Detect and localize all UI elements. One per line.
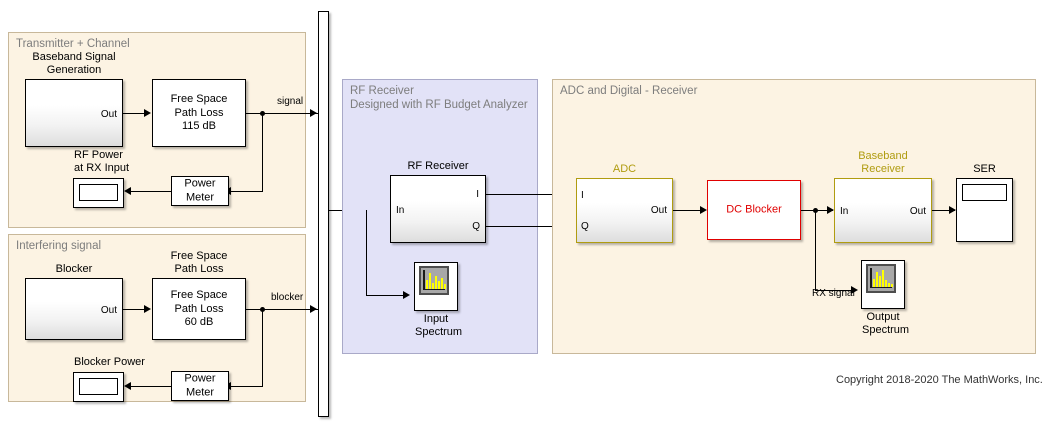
rf-power-display-readout (79, 184, 118, 201)
arrow-merge-in-blocker (310, 305, 317, 313)
port-label-in: In (396, 205, 404, 216)
port-label-out: Out (910, 206, 926, 217)
block-adc[interactable]: ADC I Q Out (576, 178, 673, 243)
block-free-space-path-loss-60-label: Free Space Path Loss (153, 250, 245, 276)
block-baseband-signal-generation[interactable]: Baseband Signal Generation Out (25, 79, 123, 147)
area-adc-digital-receiver-title: ADC and Digital - Receiver (560, 84, 697, 98)
block-input-spectrum-scope[interactable]: Input Spectrum (414, 262, 458, 311)
block-baseband-receiver[interactable]: Baseband Receiver In Out (834, 178, 932, 243)
spectrum-icon (866, 264, 896, 293)
block-baseband-receiver-label: Baseband Receiver (835, 150, 931, 176)
wire-to-power-meter-blocker (230, 386, 263, 387)
blocker-power-display-readout (79, 378, 118, 395)
wire-signal-tap-down (262, 113, 263, 191)
arrow-dc-blocker-in (700, 206, 707, 214)
arrow-merge-in-signal (310, 109, 317, 117)
port-label-q: Q (472, 221, 480, 232)
block-power-meter-blocker-text: Power Meter (172, 373, 228, 400)
block-power-meter-tx[interactable]: Power Meter (171, 176, 229, 206)
simulink-model-canvas: Transmitter + Channel Baseband Signal Ge… (0, 0, 1056, 427)
block-power-meter-tx-text: Power Meter (172, 178, 228, 205)
arrow-fspl60-in (144, 305, 151, 313)
wire-to-input-spectrum (366, 295, 408, 296)
area-interfering-signal-title: Interfering signal (16, 239, 101, 253)
arrow-baseband-receiver-in (827, 206, 834, 214)
ser-display-readout (962, 184, 1007, 201)
port-label-i: I (476, 189, 479, 200)
signal-label-blocker: blocker (271, 292, 303, 303)
block-free-space-path-loss-115[interactable]: Free Space Path Loss 115 dB (152, 79, 246, 147)
signal-label-rx-signal: RX signal (812, 288, 855, 299)
block-free-space-path-loss-115-text: Free Space Path Loss 115 dB (153, 93, 245, 134)
block-rf-receiver-label: RF Receiver (391, 160, 485, 173)
block-power-meter-blocker[interactable]: Power Meter (171, 371, 229, 401)
arrow-rf-power-display-in (124, 187, 131, 195)
arrow-ser-in (949, 206, 956, 214)
block-input-spectrum-label: Input Spectrum (415, 313, 457, 339)
block-adc-label: ADC (577, 163, 672, 176)
block-ser-display-label: SER (957, 163, 1012, 176)
block-merge-bar[interactable] (318, 11, 329, 417)
area-transmitter-channel-title: Transmitter + Channel (16, 37, 130, 51)
signal-label-signal: signal (277, 96, 303, 107)
wire-adc-to-dc-blocker (673, 210, 703, 211)
block-dc-blocker-text: DC Blocker (708, 203, 800, 217)
block-rf-power-display-label: RF Power at RX Input (74, 149, 123, 175)
wire-power-meter-tx-to-display (130, 191, 171, 192)
block-blocker-label: Blocker (26, 263, 122, 276)
block-baseband-signal-generation-label: Baseband Signal Generation (26, 51, 122, 77)
block-free-space-path-loss-60-text: Free Space Path Loss 60 dB (153, 289, 245, 330)
block-output-spectrum-label: Output Spectrum (862, 311, 904, 337)
block-rf-power-display[interactable]: RF Power at RX Input (73, 178, 124, 208)
block-blocker[interactable]: Blocker Out (25, 278, 123, 340)
copyright-notice: Copyright 2018-2020 The MathWorks, Inc. (836, 374, 1043, 386)
wire-to-power-meter-tx (230, 191, 263, 192)
wire-blocker-tap-down (262, 309, 263, 386)
port-label-out: Out (101, 305, 117, 316)
wire-rx-signal-tap-down (815, 210, 816, 290)
port-label-out: Out (651, 205, 667, 216)
scope-bars (423, 271, 444, 289)
block-blocker-power-display[interactable]: Blocker Power (73, 372, 124, 402)
arrow-input-spectrum-in (403, 291, 410, 299)
port-label-i: I (581, 190, 584, 201)
block-ser-display[interactable]: SER (956, 178, 1013, 242)
spectrum-icon (419, 266, 449, 295)
arrow-fspl115-in (144, 109, 151, 117)
port-label-in: In (840, 206, 848, 217)
block-output-spectrum-scope[interactable]: Output Spectrum (861, 260, 905, 309)
block-free-space-path-loss-60[interactable]: Free Space Path Loss Free Space Path Los… (152, 278, 246, 340)
block-blocker-power-display-label: Blocker Power (74, 356, 123, 369)
port-label-q: Q (581, 221, 589, 232)
wire-input-spectrum-tap-down (366, 210, 367, 295)
area-rf-receiver-title: RF Receiver Designed with RF Budget Anal… (350, 84, 528, 112)
arrow-blocker-power-display-in (124, 382, 131, 390)
wire-power-meter-blocker-to-display (130, 386, 171, 387)
port-label-out: Out (101, 109, 117, 120)
block-dc-blocker[interactable]: DC Blocker (707, 180, 801, 240)
block-rf-receiver[interactable]: RF Receiver In I Q (390, 175, 486, 243)
scope-bars (870, 269, 891, 287)
